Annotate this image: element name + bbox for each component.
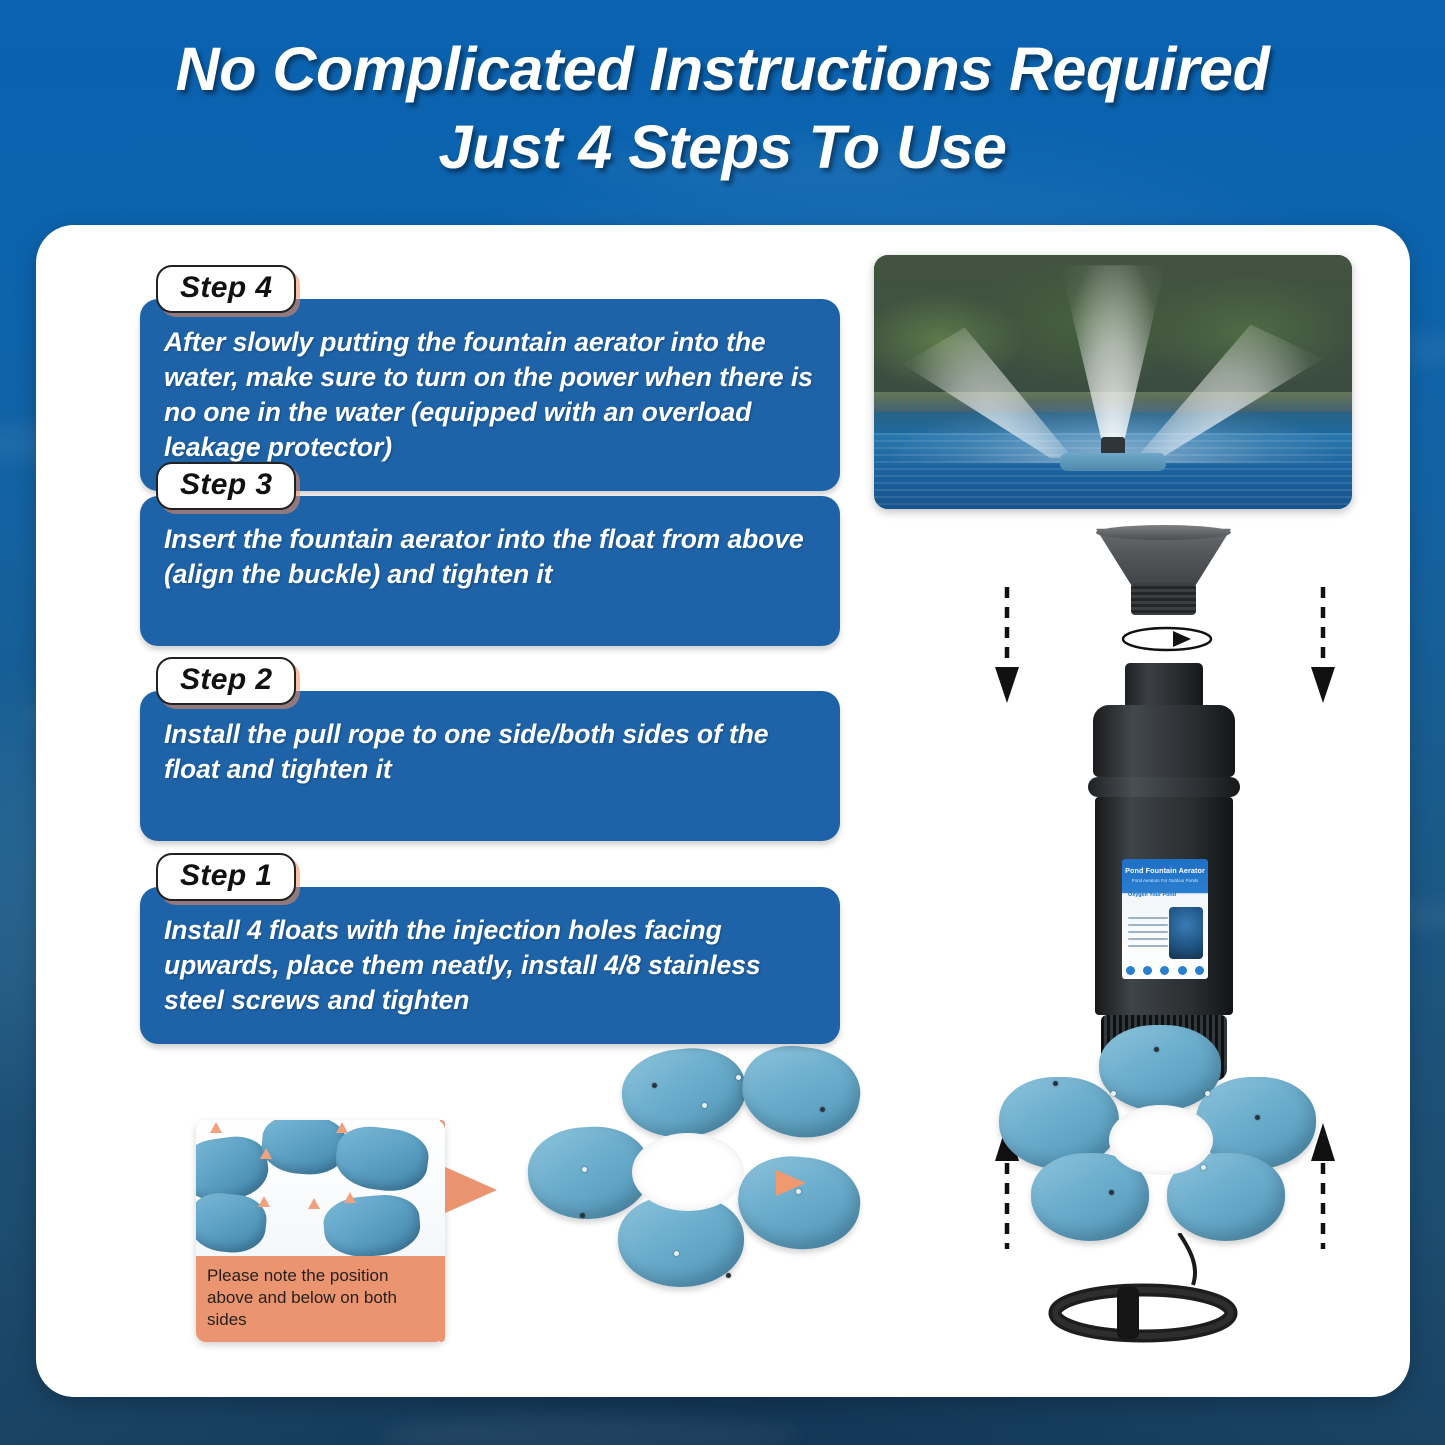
float-screw <box>1154 1047 1159 1052</box>
step-body-2: Install the pull rope to one side/both s… <box>140 691 840 841</box>
photo-float <box>1060 453 1165 471</box>
label-product-photo <box>1169 907 1203 959</box>
nozzle-rim <box>1096 525 1231 540</box>
label-heading: Oxygen Your Pond <box>1128 892 1208 898</box>
float-screw <box>1205 1091 1210 1096</box>
assembly-direction-arrow-icon <box>776 1170 806 1196</box>
float-screw <box>702 1103 707 1108</box>
float-center-hole <box>632 1133 744 1211</box>
step-tab-2: Step 2 <box>156 657 296 705</box>
label-feature-icons <box>1122 966 1208 975</box>
note-up-arrow-icon <box>308 1198 320 1209</box>
step-body-3: Insert the fountain aerator into the flo… <box>140 496 840 646</box>
fountain-nozzle-icon <box>1096 525 1231 620</box>
step-text-4: After slowly putting the fountain aerato… <box>164 325 814 465</box>
label-title: Pond Fountain Aerator <box>1122 866 1208 875</box>
step-tab-1: Step 1 <box>156 853 296 901</box>
float-petal <box>734 1151 865 1255</box>
float-piece <box>333 1123 432 1196</box>
note-illustration <box>196 1120 445 1256</box>
note-text: Please note the position above and below… <box>196 1256 445 1342</box>
infographic-canvas: No Complicated Instructions Required Jus… <box>0 0 1445 1445</box>
float-screw <box>580 1213 585 1218</box>
note-up-arrow-icon <box>260 1148 272 1159</box>
note-up-arrow-icon <box>344 1192 356 1203</box>
float-petal <box>736 1038 867 1145</box>
product-label: Pond Fountain Aerator Pond Aerators For … <box>1122 859 1208 979</box>
pump-neck <box>1125 663 1203 707</box>
rotate-arrow-icon <box>1117 625 1217 655</box>
float-screw <box>1109 1190 1114 1195</box>
fountain-photo <box>874 255 1352 509</box>
float-screw <box>726 1273 731 1278</box>
label-spec-lines <box>1128 917 1168 952</box>
note-callout-tail <box>443 1166 497 1214</box>
step-text-2: Install the pull rope to one side/both s… <box>164 717 814 787</box>
float-piece <box>322 1192 423 1256</box>
note-callout: Please note the position above and below… <box>196 1120 445 1342</box>
float-petal <box>618 1043 751 1143</box>
float-screw <box>1053 1081 1058 1086</box>
down-arrow-left-icon <box>993 587 1021 707</box>
content-panel: Step 4 After slowly putting the fountain… <box>36 225 1410 1397</box>
down-arrow-right-icon <box>1309 587 1337 707</box>
note-up-arrow-icon <box>210 1122 222 1133</box>
float-screw <box>736 1075 741 1080</box>
step-block-4: Step 4 After slowly putting the fountain… <box>140 265 840 491</box>
note-up-arrow-icon <box>336 1122 348 1133</box>
step-text-3: Insert the fountain aerator into the flo… <box>164 522 814 592</box>
title-line-1: No Complicated Instructions Required <box>0 34 1445 106</box>
float-center-hole <box>1109 1105 1213 1175</box>
float-screw <box>1201 1165 1206 1170</box>
nozzle-thread <box>1131 583 1196 615</box>
page-title: No Complicated Instructions Required Jus… <box>0 34 1445 184</box>
pull-rope <box>1021 1233 1271 1361</box>
float-screw <box>820 1107 825 1112</box>
water-ripple <box>380 1415 800 1445</box>
step-block-2: Step 2 Install the pull rope to one side… <box>140 657 840 841</box>
float-screw <box>652 1083 657 1088</box>
note-up-arrow-icon <box>258 1196 270 1207</box>
pump-body-icon: Pond Fountain Aerator Pond Aerators For … <box>1093 663 1235 1081</box>
pump-shoulder <box>1093 705 1235 777</box>
float-screw <box>674 1251 679 1256</box>
title-line-2: Just 4 Steps To Use <box>0 112 1445 184</box>
float-screw <box>1255 1115 1260 1120</box>
pump-collar <box>1088 777 1240 797</box>
step-block-1: Step 1 Install 4 floats with the injecti… <box>140 853 840 1044</box>
step-tab-4: Step 4 <box>156 265 296 313</box>
float-piece <box>260 1120 348 1177</box>
step-body-1: Install 4 floats with the injection hole… <box>140 887 840 1044</box>
label-subtitle: Pond Aerators For Outdoor Ponds <box>1122 878 1208 883</box>
step-tab-3: Step 3 <box>156 462 296 510</box>
step-text-1: Install 4 floats with the injection hole… <box>164 913 814 1018</box>
pump-housing: Pond Fountain Aerator Pond Aerators For … <box>1095 797 1233 1015</box>
float-screw <box>1111 1091 1116 1096</box>
float-screw <box>582 1167 587 1172</box>
